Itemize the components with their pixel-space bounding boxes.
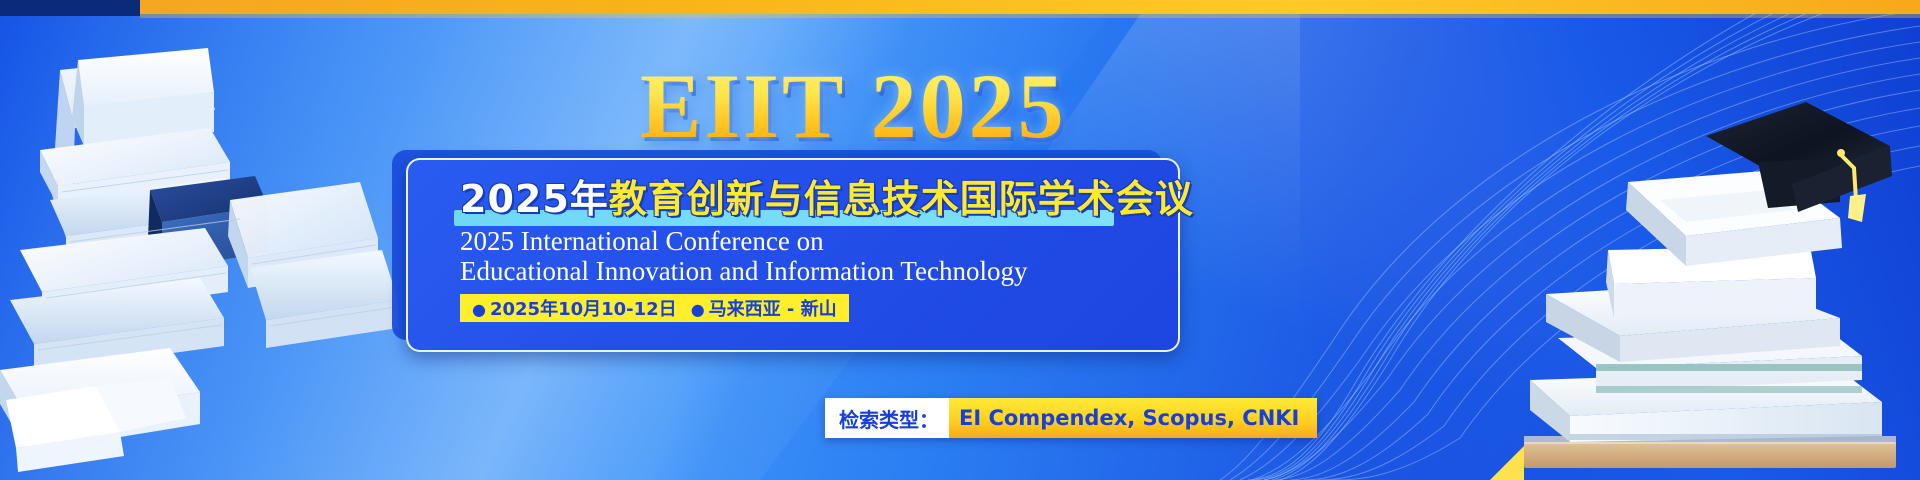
bullet-icon: ● [472,300,486,319]
page-title: EIIT 2025 [640,60,1067,152]
conference-info-card: 2025年教育创新与信息技术国际学术会议 2025 International … [406,158,1180,352]
indexing-value: EI Compendex, Scopus, CNKI [949,398,1317,438]
right-books-svg [1510,50,1910,480]
chinese-title-year: 2025年 [460,177,609,221]
left-books-svg [0,0,430,480]
conference-location-text: 马来西亚 - 新山 [709,299,837,320]
english-title-line-1: 2025 International Conference on [460,226,824,258]
chinese-title-rest: 教育创新与信息技术国际学术会议 [609,177,1194,221]
english-title-line-2: Educational Innovation and Information T… [460,256,1027,288]
indexing-label: 检索类型： [825,398,949,438]
conference-banner: EIIT 2025 2025年教育创新与信息技术国际学术会议 2025 Inte… [0,0,1920,480]
conference-date: ●2025年10月10-12日 [472,295,677,321]
books-and-folders-illustration [0,0,430,480]
chinese-title: 2025年教育创新与信息技术国际学术会议 [460,168,1194,223]
conference-location: ●马来西亚 - 新山 [691,295,837,321]
conference-date-text: 2025年10月10-12日 [490,299,677,320]
graduation-cap-and-books-illustration [1510,50,1910,480]
yellow-corner-accent [1490,446,1524,480]
date-location-bar: ●2025年10月10-12日 ●马来西亚 - 新山 [460,294,849,322]
indexing-bar: 检索类型： EI Compendex, Scopus, CNKI [825,398,1317,438]
bullet-icon: ● [691,300,705,319]
